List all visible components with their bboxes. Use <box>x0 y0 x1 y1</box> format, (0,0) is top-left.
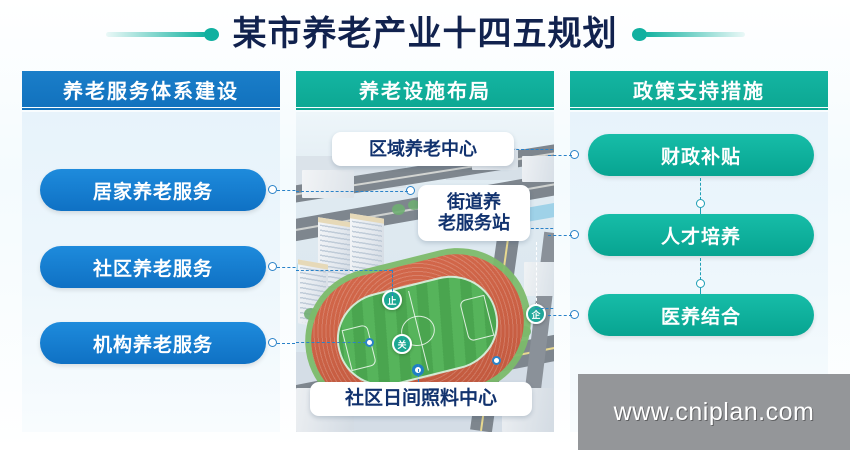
connector-node-left-1 <box>268 185 277 194</box>
penalty-box-right <box>459 295 494 342</box>
map-label-community-day-care-center[interactable]: 社区日间照料中心 <box>310 382 532 416</box>
connector-node-left-2 <box>268 262 277 271</box>
column-header-underline-2 <box>296 108 554 110</box>
chain-node-1 <box>696 199 705 208</box>
pill-fiscal-subsidy[interactable]: 财政补贴 <box>588 134 814 176</box>
map-label-street-care-station[interactable]: 街道养 老服务站 <box>418 185 530 241</box>
map-label-line2: 老服务站 <box>438 213 510 234</box>
chain-line-2 <box>700 258 701 280</box>
penalty-box-left <box>342 324 377 371</box>
pill-institutional-care-service[interactable]: 机构养老服务 <box>40 322 266 364</box>
chain-line-1b <box>700 208 701 214</box>
map-marker-3[interactable]: 关 <box>392 334 412 354</box>
decoration-bar-right <box>645 32 745 37</box>
decoration-dot-left <box>204 28 219 41</box>
marker-glyph: 企 <box>531 308 540 321</box>
chain-node-2 <box>696 279 705 288</box>
page-title: 某市养老产业十四五规划 <box>233 17 618 51</box>
connector-line-right-2 <box>548 235 572 236</box>
map-label-line1: 街道养 <box>447 192 501 213</box>
map-marker-2[interactable]: 企 <box>526 304 546 324</box>
map-dashline-mid <box>296 270 392 271</box>
map-dashline-vert-bottom <box>418 364 419 382</box>
column-header-policy-support: 政策支持措施 <box>570 71 828 107</box>
map-dashline-low <box>296 342 366 343</box>
title-row: 某市养老产业十四五规划 <box>0 8 850 60</box>
pill-community-care-service[interactable]: 社区养老服务 <box>40 246 266 288</box>
title-decoration-left <box>106 28 219 41</box>
title-decoration-right <box>632 28 745 41</box>
decoration-bar-left <box>106 32 206 37</box>
map-dashline-vert-marker2 <box>536 242 537 306</box>
map-dashline-top <box>296 191 408 192</box>
pill-medical-elderly-integration[interactable]: 医养结合 <box>588 294 814 336</box>
map-pin-road <box>492 356 501 365</box>
city-aerial-illustration: 止 企 关 区域养老中心 街道养 老服务站 社区日间照料中心 <box>296 112 554 432</box>
map-dashline-vert-marker1 <box>392 270 393 296</box>
column-header-underline-3 <box>570 108 828 110</box>
pill-home-care-service[interactable]: 居家养老服务 <box>40 169 266 211</box>
map-pin-left <box>365 338 374 347</box>
column-header-underline-1 <box>22 108 280 110</box>
map-label-regional-care-center[interactable]: 区域养老中心 <box>332 132 514 166</box>
chain-line-2b <box>700 288 701 294</box>
column-header-facility-layout: 养老设施布局 <box>296 71 554 107</box>
chain-line-1 <box>700 178 701 200</box>
marker-glyph: 关 <box>397 338 406 351</box>
map-dashline-right-low <box>536 308 554 309</box>
connector-line-right-1 <box>548 155 572 156</box>
office-block <box>522 156 554 182</box>
pill-talent-training[interactable]: 人才培养 <box>588 214 814 256</box>
watermark-text: www.cniplan.com <box>614 398 815 427</box>
column-header-service-system: 养老服务体系建设 <box>22 71 280 107</box>
office-block <box>524 262 554 296</box>
connector-node-left-3 <box>268 338 277 347</box>
watermark-overlay: www.cniplan.com <box>578 374 850 450</box>
tree <box>392 204 405 215</box>
office-block <box>302 170 354 198</box>
connector-line-right-3 <box>548 315 572 316</box>
